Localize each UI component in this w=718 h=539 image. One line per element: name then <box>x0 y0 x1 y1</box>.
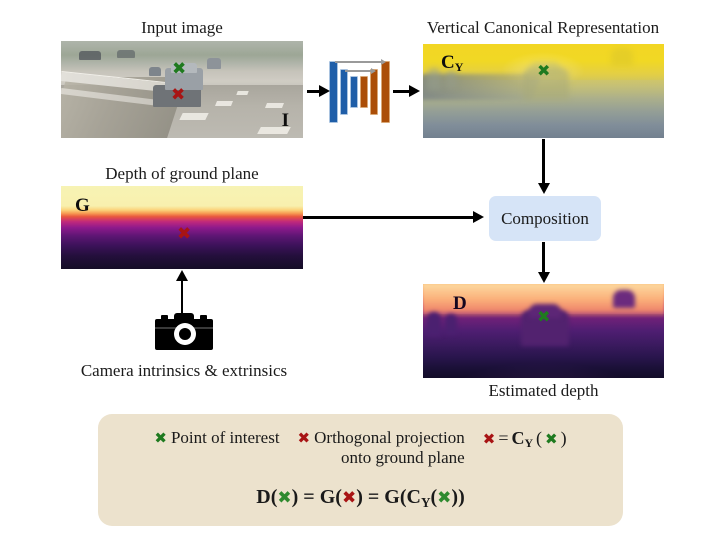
caption-vertical-canonical: Vertical Canonical Representation <box>398 19 688 38</box>
marker-point-of-interest: ✖ <box>537 309 550 325</box>
panel-input-image: ✖ ✖ I <box>61 41 303 138</box>
arrow-unet-to-canonical-head <box>409 85 420 97</box>
panel-tag-ground: G <box>75 196 90 215</box>
panel-vertical-canonical: CY ✖ <box>423 44 664 138</box>
unet-encoder-block <box>329 61 338 123</box>
panel-tag-canonical-letter: C <box>441 52 455 73</box>
figure-canvas: Input image ✖ ✖ I <box>0 0 718 539</box>
formula-red-x-icon: ✖ <box>342 488 356 508</box>
caption-estimated-depth: Estimated depth <box>423 382 664 401</box>
legend-item-point-of-interest: ✖ Point of interest <box>154 428 279 448</box>
vehicle <box>149 67 161 76</box>
relation-red-x-icon: ✖ <box>483 429 496 449</box>
canonical-structure-blob <box>611 48 633 66</box>
vehicle <box>79 51 101 60</box>
camera-icon <box>155 312 213 350</box>
caption-camera-params: Camera intrinsics & extrinsics <box>39 362 329 381</box>
lane-marking <box>236 91 248 95</box>
marker-point-of-interest: ✖ <box>537 63 550 79</box>
formula-equals-1: = <box>303 486 314 508</box>
relation-open-paren: ( <box>536 428 542 448</box>
unet-skip-connection <box>335 61 383 63</box>
panel-ground-plane: G ✖ <box>61 186 303 269</box>
unet-encoder-block <box>340 69 348 115</box>
depth-structure-blob <box>445 314 457 334</box>
formula-d: D <box>256 486 270 508</box>
lane-marking <box>265 103 284 108</box>
legend-red-x-icon: ✖ <box>298 428 311 448</box>
relation-green-x-icon: ✖ <box>545 429 558 449</box>
legend-label-orthogonal-projection: Orthogonal projection onto ground plane <box>314 428 465 468</box>
arrow-camera-to-ground-head <box>176 270 188 281</box>
vehicle <box>117 50 135 58</box>
unet-skip-connection <box>345 70 373 72</box>
formula-g-2: G <box>384 486 400 508</box>
marker-point-of-interest: ✖ <box>172 61 186 78</box>
arrow-canonical-to-composition-line <box>542 139 545 185</box>
relation-function-subscript: Y <box>524 436 533 450</box>
legend-green-x-icon: ✖ <box>154 428 167 448</box>
marker-ground-projection: ✖ <box>171 87 185 104</box>
lane-marking <box>179 113 208 120</box>
unet-encoder-block <box>350 76 358 108</box>
unet-skip-arrowhead <box>381 59 386 65</box>
formula-close-1: ) <box>292 486 299 508</box>
camera-lens-center <box>179 328 191 340</box>
arrow-composition-to-depth-head <box>538 272 550 283</box>
formula-green-x-icon: ✖ <box>277 488 291 508</box>
unet-decoder-block <box>360 76 368 108</box>
legend-label-line2: onto ground plane <box>314 448 465 468</box>
marker-ground-projection: ✖ <box>177 226 191 243</box>
relation-close-paren: ) <box>561 428 567 448</box>
arrow-camera-to-ground-line <box>181 281 183 313</box>
unet-skip-arrowhead <box>371 68 376 74</box>
arrow-input-to-unet-head <box>319 85 330 97</box>
lane-marking <box>215 101 233 106</box>
formula-open-3: ( <box>400 486 407 508</box>
formula-cy-subscript: Y <box>421 495 431 510</box>
legend-main-formula: D(✖) = G(✖) = G(CY(✖)) <box>98 486 623 509</box>
depth-structure-blob <box>427 312 441 336</box>
legend-relation-formula: ✖ = CY ( ✖ ) <box>483 428 567 450</box>
formula-cy: C <box>407 486 421 508</box>
canonical-structure-blob <box>427 68 441 90</box>
panel-tag-canonical-sub: Y <box>455 60 464 74</box>
panel-tag-depth: D <box>453 294 467 313</box>
legend-row: ✖ Point of interest ✖ Orthogonal project… <box>98 428 623 468</box>
panel-tag-input: I <box>282 111 289 130</box>
arrow-canonical-to-composition-head <box>538 183 550 194</box>
arrow-composition-to-depth-line <box>542 242 545 274</box>
formula-g-1: G <box>320 486 336 508</box>
formula-open-2: ( <box>335 486 342 508</box>
formula-close-3: ) <box>458 486 465 508</box>
panel-tag-canonical: CY <box>441 53 463 72</box>
caption-depth-ground-plane: Depth of ground plane <box>61 165 303 184</box>
caption-input-image: Input image <box>61 19 303 38</box>
formula-equals-2: = <box>368 486 379 508</box>
formula-green-x-icon-2: ✖ <box>437 488 451 508</box>
unet-decoder-block <box>370 69 378 115</box>
unet-decoder-block <box>381 61 390 123</box>
panel-estimated-depth: D ✖ <box>423 284 664 378</box>
legend-box: ✖ Point of interest ✖ Orthogonal project… <box>98 414 623 526</box>
legend-label-line1: Orthogonal projection <box>314 428 465 447</box>
depth-structure-blob <box>613 290 635 308</box>
arrow-ground-to-composition-line <box>303 216 475 219</box>
u-net-icon <box>329 59 391 125</box>
legend-label-point-of-interest: Point of interest <box>171 428 280 448</box>
formula-close-2: ) <box>356 486 363 508</box>
relation-equals: = <box>498 428 508 448</box>
legend-item-orthogonal-projection: ✖ Orthogonal projection onto ground plan… <box>298 428 465 468</box>
composition-label: Composition <box>501 209 589 229</box>
composition-block[interactable]: Composition <box>489 196 601 241</box>
arrow-ground-to-composition-head <box>473 211 484 223</box>
vehicle <box>207 58 221 69</box>
relation-function-name: CY <box>511 428 533 450</box>
